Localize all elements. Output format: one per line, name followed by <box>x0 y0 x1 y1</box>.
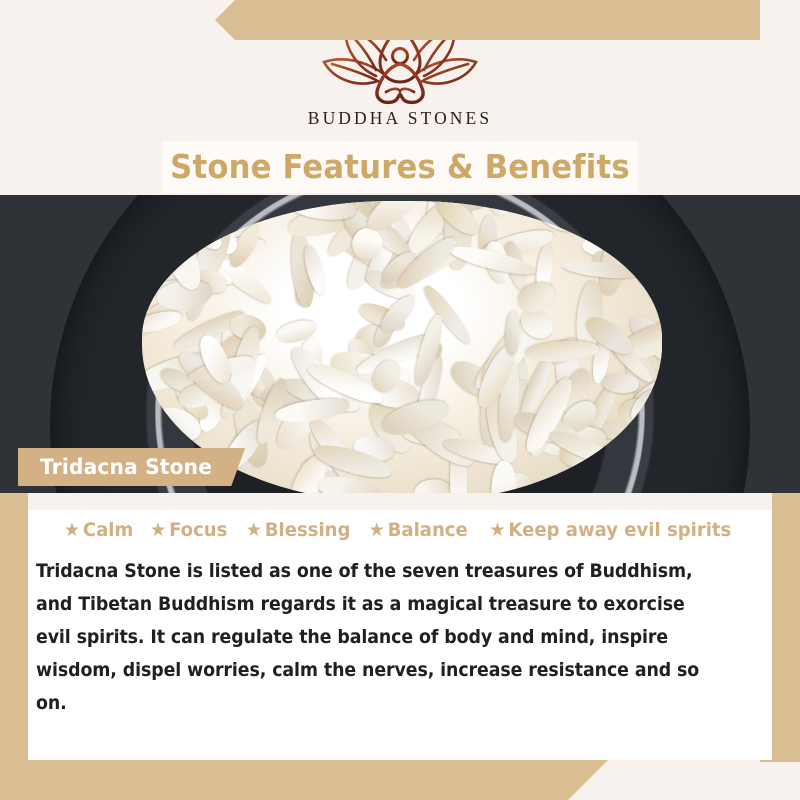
stone-chip <box>413 478 453 493</box>
panel-top-tint <box>28 493 772 510</box>
page-title: Stone Features & Benefits <box>28 141 772 193</box>
feature-label: Keep away evil spirits <box>509 519 732 541</box>
frame-band-bottom <box>0 760 608 800</box>
feature-label: Balance <box>388 519 468 541</box>
feature-tag: ★Calm <box>64 519 133 541</box>
star-icon: ★ <box>245 521 261 540</box>
feature-tag: ★Keep away evil spirits <box>490 519 732 541</box>
feature-list: ★Calm★Focus★Blessing★Balance★Keep away e… <box>28 519 772 541</box>
promo-graphic: BUDDHA STONES Stone Features & Benefits … <box>0 0 800 800</box>
stone-name-banner: Tridacna Stone <box>18 448 245 486</box>
stone-chip <box>491 460 517 493</box>
star-icon: ★ <box>64 521 80 540</box>
frame-band-top <box>195 0 800 40</box>
feature-tag: ★Balance <box>368 519 467 541</box>
brand-name: BUDDHA STONES <box>0 108 800 129</box>
feature-label: Calm <box>83 519 133 541</box>
star-icon: ★ <box>490 521 506 540</box>
description-panel: ★Calm★Focus★Blessing★Balance★Keep away e… <box>28 493 772 760</box>
feature-tag: ★Blessing <box>245 519 350 541</box>
feature-tag: ★Focus <box>150 519 227 541</box>
star-icon: ★ <box>368 521 384 540</box>
stone-chip <box>524 339 599 364</box>
description-text: Tridacna Stone is listed as one of the s… <box>36 555 717 720</box>
stone-name-label: Tridacna Stone <box>40 455 212 479</box>
feature-label: Focus <box>169 519 227 541</box>
star-icon: ★ <box>150 521 166 540</box>
feature-label: Blessing <box>264 519 350 541</box>
